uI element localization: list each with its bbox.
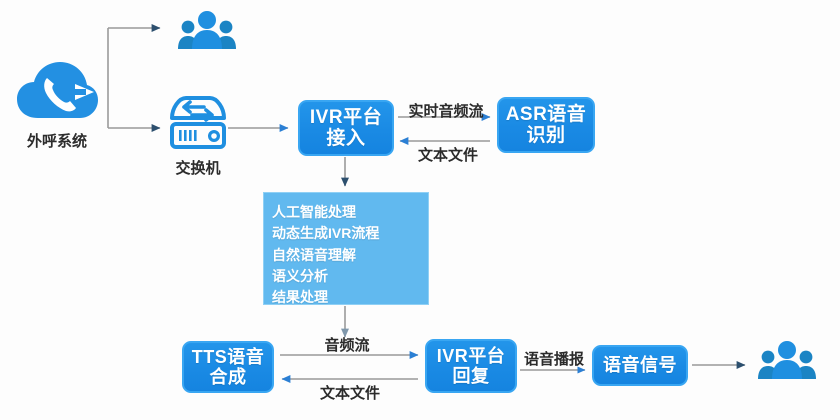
network-switch-icon (166, 92, 230, 154)
edge-outbound-to-branch (108, 28, 160, 128)
ai-processing-line-3: 自然语音理解 (272, 245, 428, 266)
cloud-phone-icon (14, 56, 100, 128)
outbound-call-system-label: 外呼系统 (4, 130, 110, 151)
tts-line-2: 合成 (210, 367, 247, 387)
people-group-icon (176, 8, 238, 54)
ivr-platform-access-line-1: IVR平台 (310, 107, 382, 128)
people-group-icon (756, 338, 818, 384)
diagram-canvas: 外呼系统 交换机 (0, 0, 840, 420)
edge-label-voice-broadcast: 语音播报 (518, 348, 590, 369)
ai-processing-line-4: 语义分析 (272, 266, 428, 287)
voice-signal-line-1: 语音信号 (603, 355, 677, 375)
asr-line-1: ASR语音 (506, 104, 587, 125)
edge-label-audio-stream: 音频流 (308, 334, 386, 355)
ivr-platform-access-node[interactable]: IVR平台 接入 (298, 100, 394, 156)
voice-signal-node[interactable]: 语音信号 (592, 345, 688, 386)
switch-label: 交换机 (150, 157, 246, 178)
ai-processing-line-5: 结果处理 (272, 287, 428, 308)
asr-line-2: 识别 (526, 125, 565, 146)
edge-label-text-file-top: 文本文件 (404, 144, 492, 165)
ivr-reply-line-1: IVR平台 (437, 346, 506, 366)
ai-processing-line-2: 动态生成IVR流程 (272, 223, 428, 244)
ai-processing-block[interactable]: 人工智能处理 动态生成IVR流程 自然语音理解 语义分析 结果处理 (263, 192, 429, 305)
tts-speech-synthesis-node[interactable]: TTS语音 合成 (182, 341, 274, 393)
asr-speech-recognition-node[interactable]: ASR语音 识别 (497, 97, 595, 153)
ivr-platform-access-line-2: 接入 (326, 128, 365, 149)
ivr-reply-line-2: 回复 (453, 366, 490, 386)
tts-line-1: TTS语音 (192, 347, 265, 367)
edge-label-text-file-bottom: 文本文件 (306, 382, 394, 403)
edge-label-realtime-audio-stream: 实时音频流 (398, 100, 494, 121)
ivr-platform-reply-node[interactable]: IVR平台 回复 (425, 339, 517, 393)
ai-processing-line-1: 人工智能处理 (272, 202, 428, 223)
